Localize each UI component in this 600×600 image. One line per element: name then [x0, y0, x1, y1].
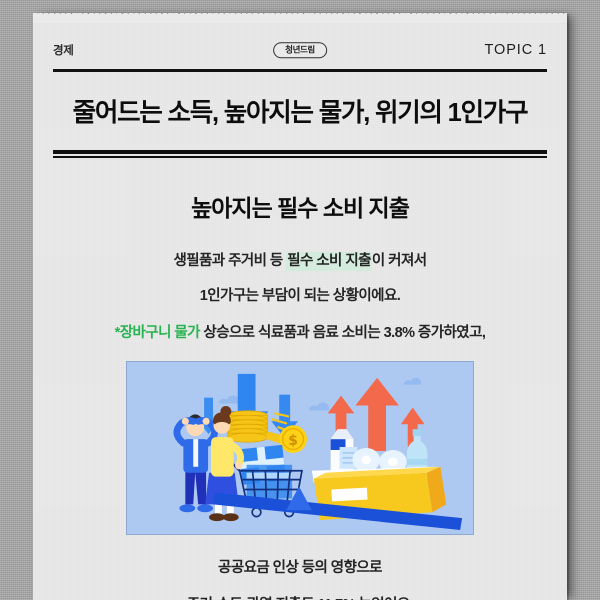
body-line-3-rest: 상승으로 식료품과 음료 소비는 3.8% 증가하였고, [200, 325, 485, 341]
perforation-teeth [33, 13, 567, 23]
brand-badge: 청년드림 [273, 42, 327, 58]
page-title: 줄어드는 소득, 높아지는 물가, 위기의 1인가구 [53, 72, 547, 150]
body-line-3: *장바구니 물가 상승으로 식료품과 음료 소비는 3.8% 증가하였고, [53, 304, 547, 341]
card-header: 경제 청년드림 TOPIC 1 [53, 33, 547, 67]
topic-label: TOPIC 1 [485, 42, 547, 58]
body-line-1-suffix: 이 커져서 [372, 253, 427, 269]
body-line-1: 생필품과 주거비 등 필수 소비 지출이 커져서 [53, 223, 547, 269]
receipt-card: 경제 청년드림 TOPIC 1 줄어드는 소득, 높아지는 물가, 위기의 1인… [33, 14, 567, 600]
dollar-coin-icon: $ [279, 426, 307, 454]
divider-line-thick [53, 150, 547, 154]
highlighted-phrase: 필수 소비 지출 [286, 252, 372, 271]
body-line-5: 주거·수도·광열 지출도 11.7% 늘었어요. [53, 576, 547, 600]
section-title: 높아지는 필수 소비 지출 [53, 158, 547, 223]
body-line-1-prefix: 생필품과 주거비 등 [173, 253, 286, 269]
category-kicker: 경제 [53, 42, 74, 58]
illustration-seesaw: $ [126, 361, 474, 535]
body-line-2: 1인가구는 부담이 되는 상황이에요. [53, 268, 547, 304]
body-line-4: 공공요금 인상 등의 영향으로 [53, 535, 547, 576]
green-term: *장바구니 물가 [115, 325, 200, 341]
svg-text:$: $ [288, 434, 298, 450]
double-divider [53, 150, 547, 158]
card-content: 경제 청년드림 TOPIC 1 줄어드는 소득, 높아지는 물가, 위기의 1인… [33, 33, 567, 600]
